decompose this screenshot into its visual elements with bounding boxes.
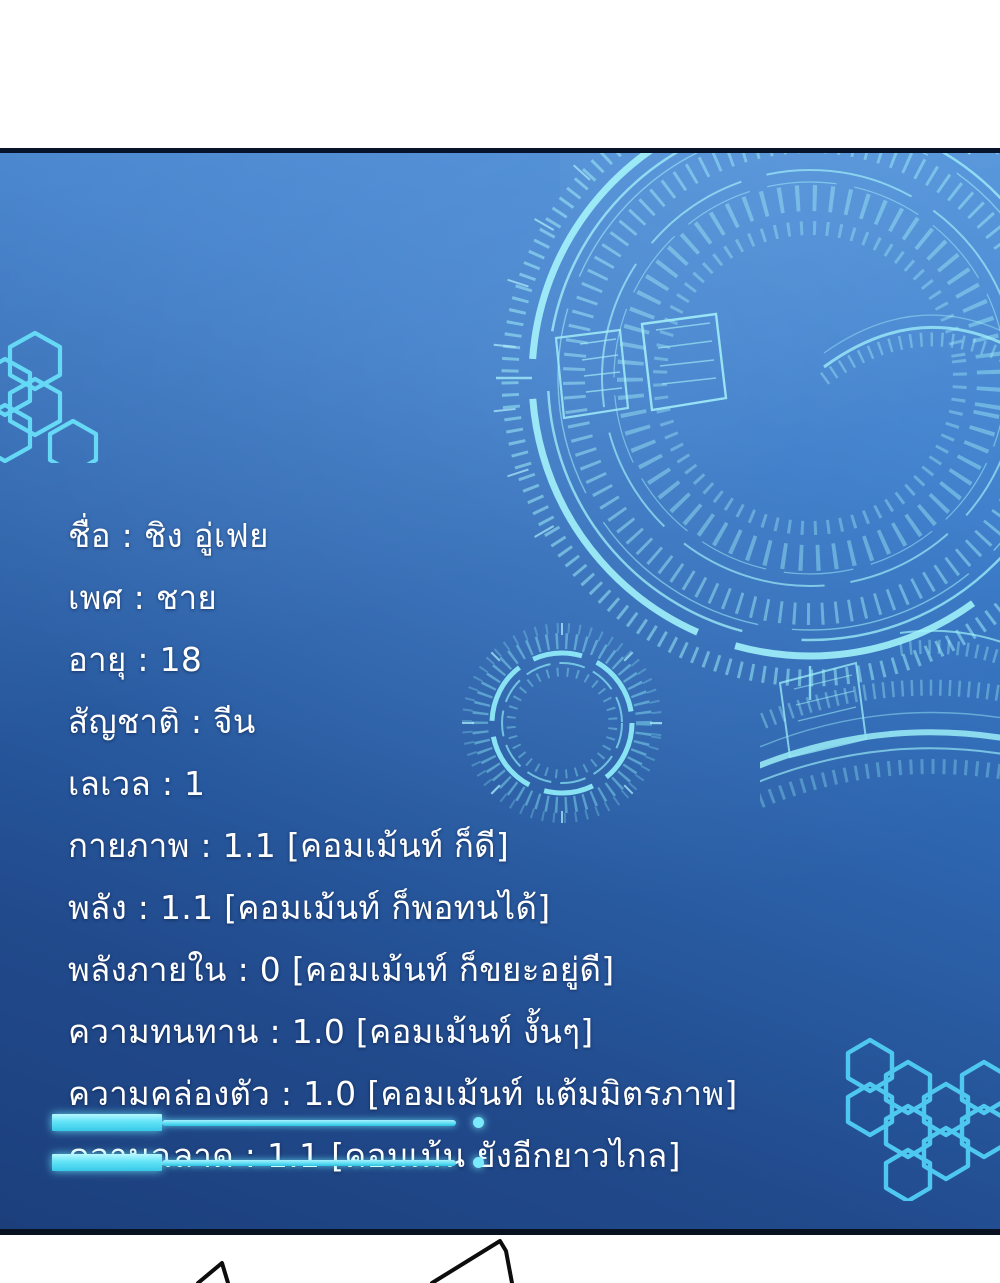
- comic-page: ชื่อ : ชิง อู่เฟย เพศ : ชาย อายุ : 18 สั…: [0, 0, 1000, 1283]
- progress-bar-2-fill: [52, 1154, 162, 1171]
- progress-bar-1[interactable]: [52, 1111, 492, 1137]
- progress-bar-2-track: [162, 1160, 456, 1166]
- progress-bar-1-fill: [52, 1114, 162, 1131]
- stat-line-name: ชื่อ : ชิง อู่เฟย: [68, 505, 868, 567]
- stat-line-gender: เพศ : ชาย: [68, 567, 868, 629]
- stat-line-endurance: ความทนทาน : 1.0 [คอมเม้นท์ งั้นๆ]: [68, 1001, 868, 1063]
- stat-line-age: อายุ : 18: [68, 629, 868, 691]
- stat-line-level: เลเวล : 1: [68, 753, 868, 815]
- stat-line-power: พลัง : 1.1 [คอมเม้นท์ ก็พอทนได้]: [68, 877, 868, 939]
- stat-line-inner-power: พลังภายใน : 0 [คอมเม้นท์ ก็ขยะอยู่ดี]: [68, 939, 868, 1001]
- next-panel-lineart: [0, 1235, 1000, 1283]
- character-status-list: ชื่อ : ชิง อู่เฟย เพศ : ชาย อายุ : 18 สั…: [68, 505, 868, 1187]
- progress-bar-group: [52, 1111, 492, 1191]
- progress-bar-1-endpoint-dot: [473, 1117, 484, 1128]
- stat-line-nationality: สัญชาติ : จีน: [68, 691, 868, 753]
- stat-line-physique: กายภาพ : 1.1 [คอมเม้นท์ ก็ดี]: [68, 815, 868, 877]
- progress-bar-2[interactable]: [52, 1151, 492, 1177]
- hexagon-cluster-top-left-icon: [0, 313, 128, 463]
- hud-arc-fragment-small-icon: [820, 283, 1000, 403]
- progress-bar-2-endpoint-dot: [473, 1157, 484, 1168]
- progress-bar-1-track: [162, 1120, 456, 1126]
- status-panel: ชื่อ : ชิง อู่เฟย เพศ : ชาย อายุ : 18 สั…: [0, 148, 1000, 1235]
